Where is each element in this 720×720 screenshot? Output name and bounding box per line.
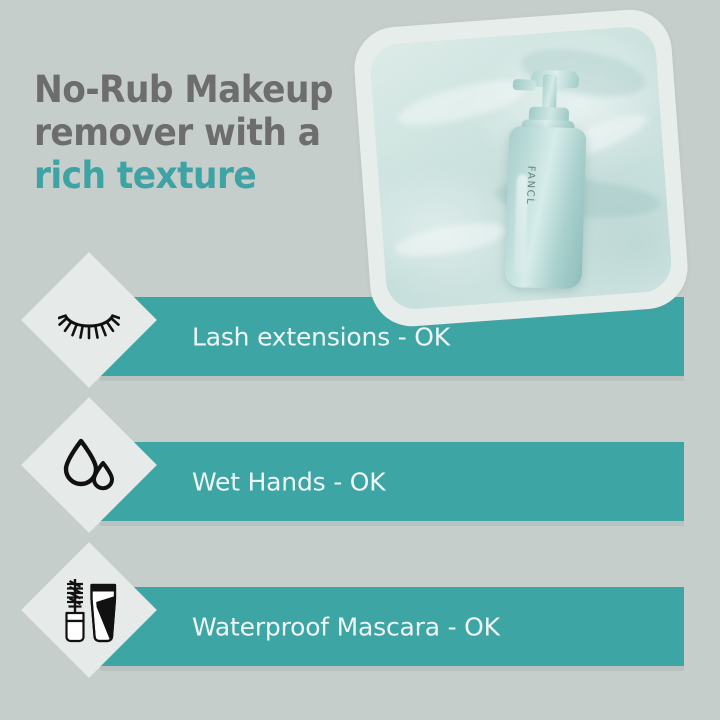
headline-line-1: No-Rub Makeup bbox=[34, 68, 369, 111]
page-title: No-Rub Makeup remover with a rich textur… bbox=[34, 68, 394, 197]
promo-banner: No-Rub Makeup remover with a rich textur… bbox=[0, 0, 720, 720]
mascara-icon bbox=[41, 562, 137, 658]
headline-line-3-accent: rich texture bbox=[34, 154, 369, 197]
headline-line-2: remover with a bbox=[34, 111, 369, 154]
water-highlight bbox=[393, 217, 510, 263]
bar-shadow bbox=[100, 666, 684, 671]
product-image-card: FANCL bbox=[362, 18, 680, 318]
water-drop-icon bbox=[41, 417, 137, 513]
feature-bar: Wet Hands - OK bbox=[96, 442, 684, 521]
feature-bar: Waterproof Mascara - OK bbox=[96, 587, 684, 666]
brand-label: FANCL bbox=[524, 166, 536, 206]
feature-label: Wet Hands - OK bbox=[192, 467, 385, 496]
bottle-body bbox=[504, 126, 586, 290]
bottle-pump-nozzle bbox=[512, 79, 535, 91]
product-bottle: FANCL bbox=[504, 69, 588, 289]
feature-row: Waterproof Mascara - OK bbox=[0, 556, 720, 696]
product-photo: FANCL bbox=[369, 25, 674, 311]
feature-label: Waterproof Mascara - OK bbox=[192, 612, 500, 641]
feature-row: Wet Hands - OK bbox=[0, 411, 720, 551]
eyelash-icon bbox=[41, 272, 137, 368]
bar-shadow bbox=[100, 376, 684, 381]
bar-shadow bbox=[100, 521, 684, 526]
